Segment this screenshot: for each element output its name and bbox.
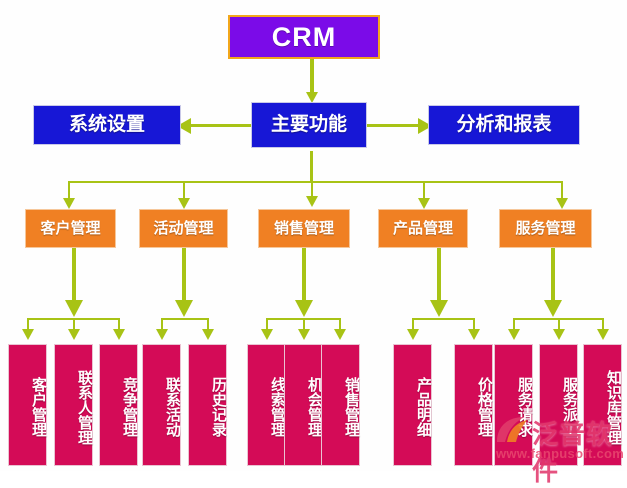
arrow-leaf-9 (407, 329, 419, 340)
connector-g4-bus (412, 318, 474, 320)
node-customer-management[interactable]: 客户管理 (25, 209, 116, 248)
connector-orange-bus (68, 181, 562, 183)
diagram-canvas: CRM 系统设置 主要功能 分析和报表 客户管理 活动管理 销售管理 产品管理 … (0, 0, 627, 471)
arrow-leaf-10 (468, 329, 480, 340)
leaf-history-record[interactable]: 历史记录 (188, 344, 227, 466)
arrow-orange-2 (178, 198, 190, 209)
node-system-settings[interactable]: 系统设置 (33, 105, 181, 145)
arrow-leaf-1 (22, 329, 34, 340)
leaf-contact-management[interactable]: 联系人管理 (54, 344, 93, 466)
arrow-leaf-4 (156, 329, 168, 340)
arrow-g2-stem (175, 300, 193, 317)
node-analysis-reports[interactable]: 分析和报表 (428, 105, 580, 145)
arrow-leaf-8 (334, 329, 346, 340)
leaf-competitor-management[interactable]: 竞争管理 (99, 344, 138, 466)
leaf-price-management[interactable]: 价格管理 (454, 344, 493, 466)
connector-main-down (310, 151, 313, 182)
arrow-g4-stem (430, 300, 448, 317)
node-main-functions[interactable]: 主要功能 (251, 102, 367, 148)
arrow-leaf-11 (508, 329, 520, 340)
node-activity-management[interactable]: 活动管理 (139, 209, 228, 248)
arrow-leaf-12 (553, 329, 565, 340)
arrow-leaf-13 (597, 329, 609, 340)
arrow-leaf-6 (261, 329, 273, 340)
arrow-orange-3 (306, 196, 318, 207)
arrow-orange-5 (556, 198, 568, 209)
leaf-lead-management[interactable]: 线索管理 (247, 344, 286, 466)
leaf-service-dispatch[interactable]: 服务派工 (539, 344, 578, 466)
leaf-knowledge-base-management[interactable]: 知识库管理 (583, 344, 622, 466)
connector-g2-bus (161, 318, 209, 320)
arrow-g3-stem (295, 300, 313, 317)
leaf-customer-management[interactable]: 客户管理 (8, 344, 47, 466)
leaf-contact-activity[interactable]: 联系活动 (142, 344, 181, 466)
node-product-management[interactable]: 产品管理 (378, 209, 468, 248)
leaf-service-request[interactable]: 服务请求 (494, 344, 533, 466)
arrow-orange-1 (63, 198, 75, 209)
leaf-product-detail[interactable]: 产品明细 (393, 344, 432, 466)
arrow-orange-4 (418, 198, 430, 209)
leaf-sales-management[interactable]: 销售管理 (321, 344, 360, 466)
node-sales-management[interactable]: 销售管理 (258, 209, 350, 248)
arrow-leaf-5 (202, 329, 214, 340)
arrow-leaf-3 (113, 329, 125, 340)
arrow-leaf-7 (298, 329, 310, 340)
connector-main-to-report (366, 124, 424, 127)
arrow-g5-stem (544, 300, 562, 317)
node-crm-root[interactable]: CRM (228, 15, 380, 59)
connector-main-to-system (185, 124, 255, 127)
leaf-opportunity-management[interactable]: 机会管理 (284, 344, 323, 466)
arrow-leaf-2 (68, 329, 80, 340)
node-service-management[interactable]: 服务管理 (499, 209, 592, 248)
arrow-g1-stem (65, 300, 83, 317)
